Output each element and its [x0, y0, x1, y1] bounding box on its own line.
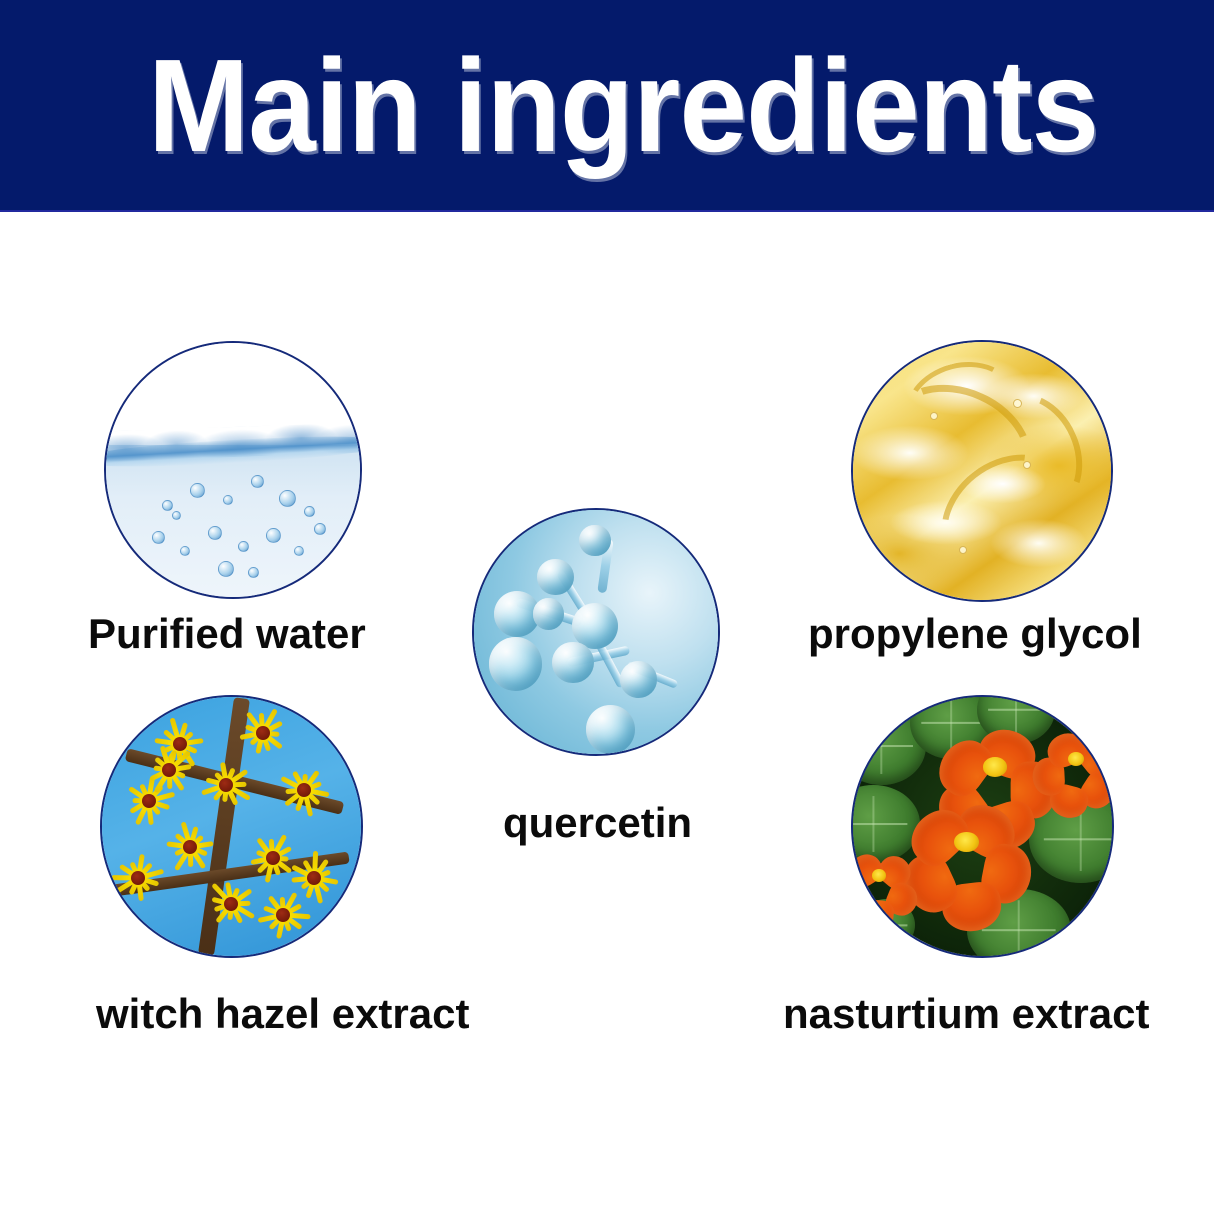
header-banner: Main ingredients	[0, 0, 1214, 212]
orange-nasturtium-flowers-photo	[853, 697, 1112, 956]
page-title: Main ingredients	[148, 40, 1098, 172]
water-surface-with-bubbles-photo	[106, 343, 360, 597]
molecule-model-photo	[474, 510, 718, 754]
witch-hazel-label: witch hazel extract	[96, 993, 469, 1035]
ingredient-propylene-glycol	[851, 340, 1113, 602]
purified-water-label: Purified water	[88, 613, 366, 655]
ingredient-quercetin	[472, 508, 720, 756]
quercetin-image	[472, 508, 720, 756]
nasturtium-image	[851, 695, 1114, 958]
golden-liquid-swirl-photo	[853, 342, 1111, 600]
ingredient-purified-water	[104, 341, 362, 599]
quercetin-label: quercetin	[503, 802, 692, 844]
yellow-witch-hazel-flowers-photo	[102, 697, 361, 956]
purified-water-image	[104, 341, 362, 599]
ingredient-nasturtium-extract	[851, 695, 1114, 958]
ingredient-witch-hazel-extract	[100, 695, 363, 958]
propylene-glycol-label: propylene glycol	[808, 613, 1142, 655]
propylene-glycol-image	[851, 340, 1113, 602]
witch-hazel-image	[100, 695, 363, 958]
nasturtium-label: nasturtium extract	[783, 993, 1149, 1035]
